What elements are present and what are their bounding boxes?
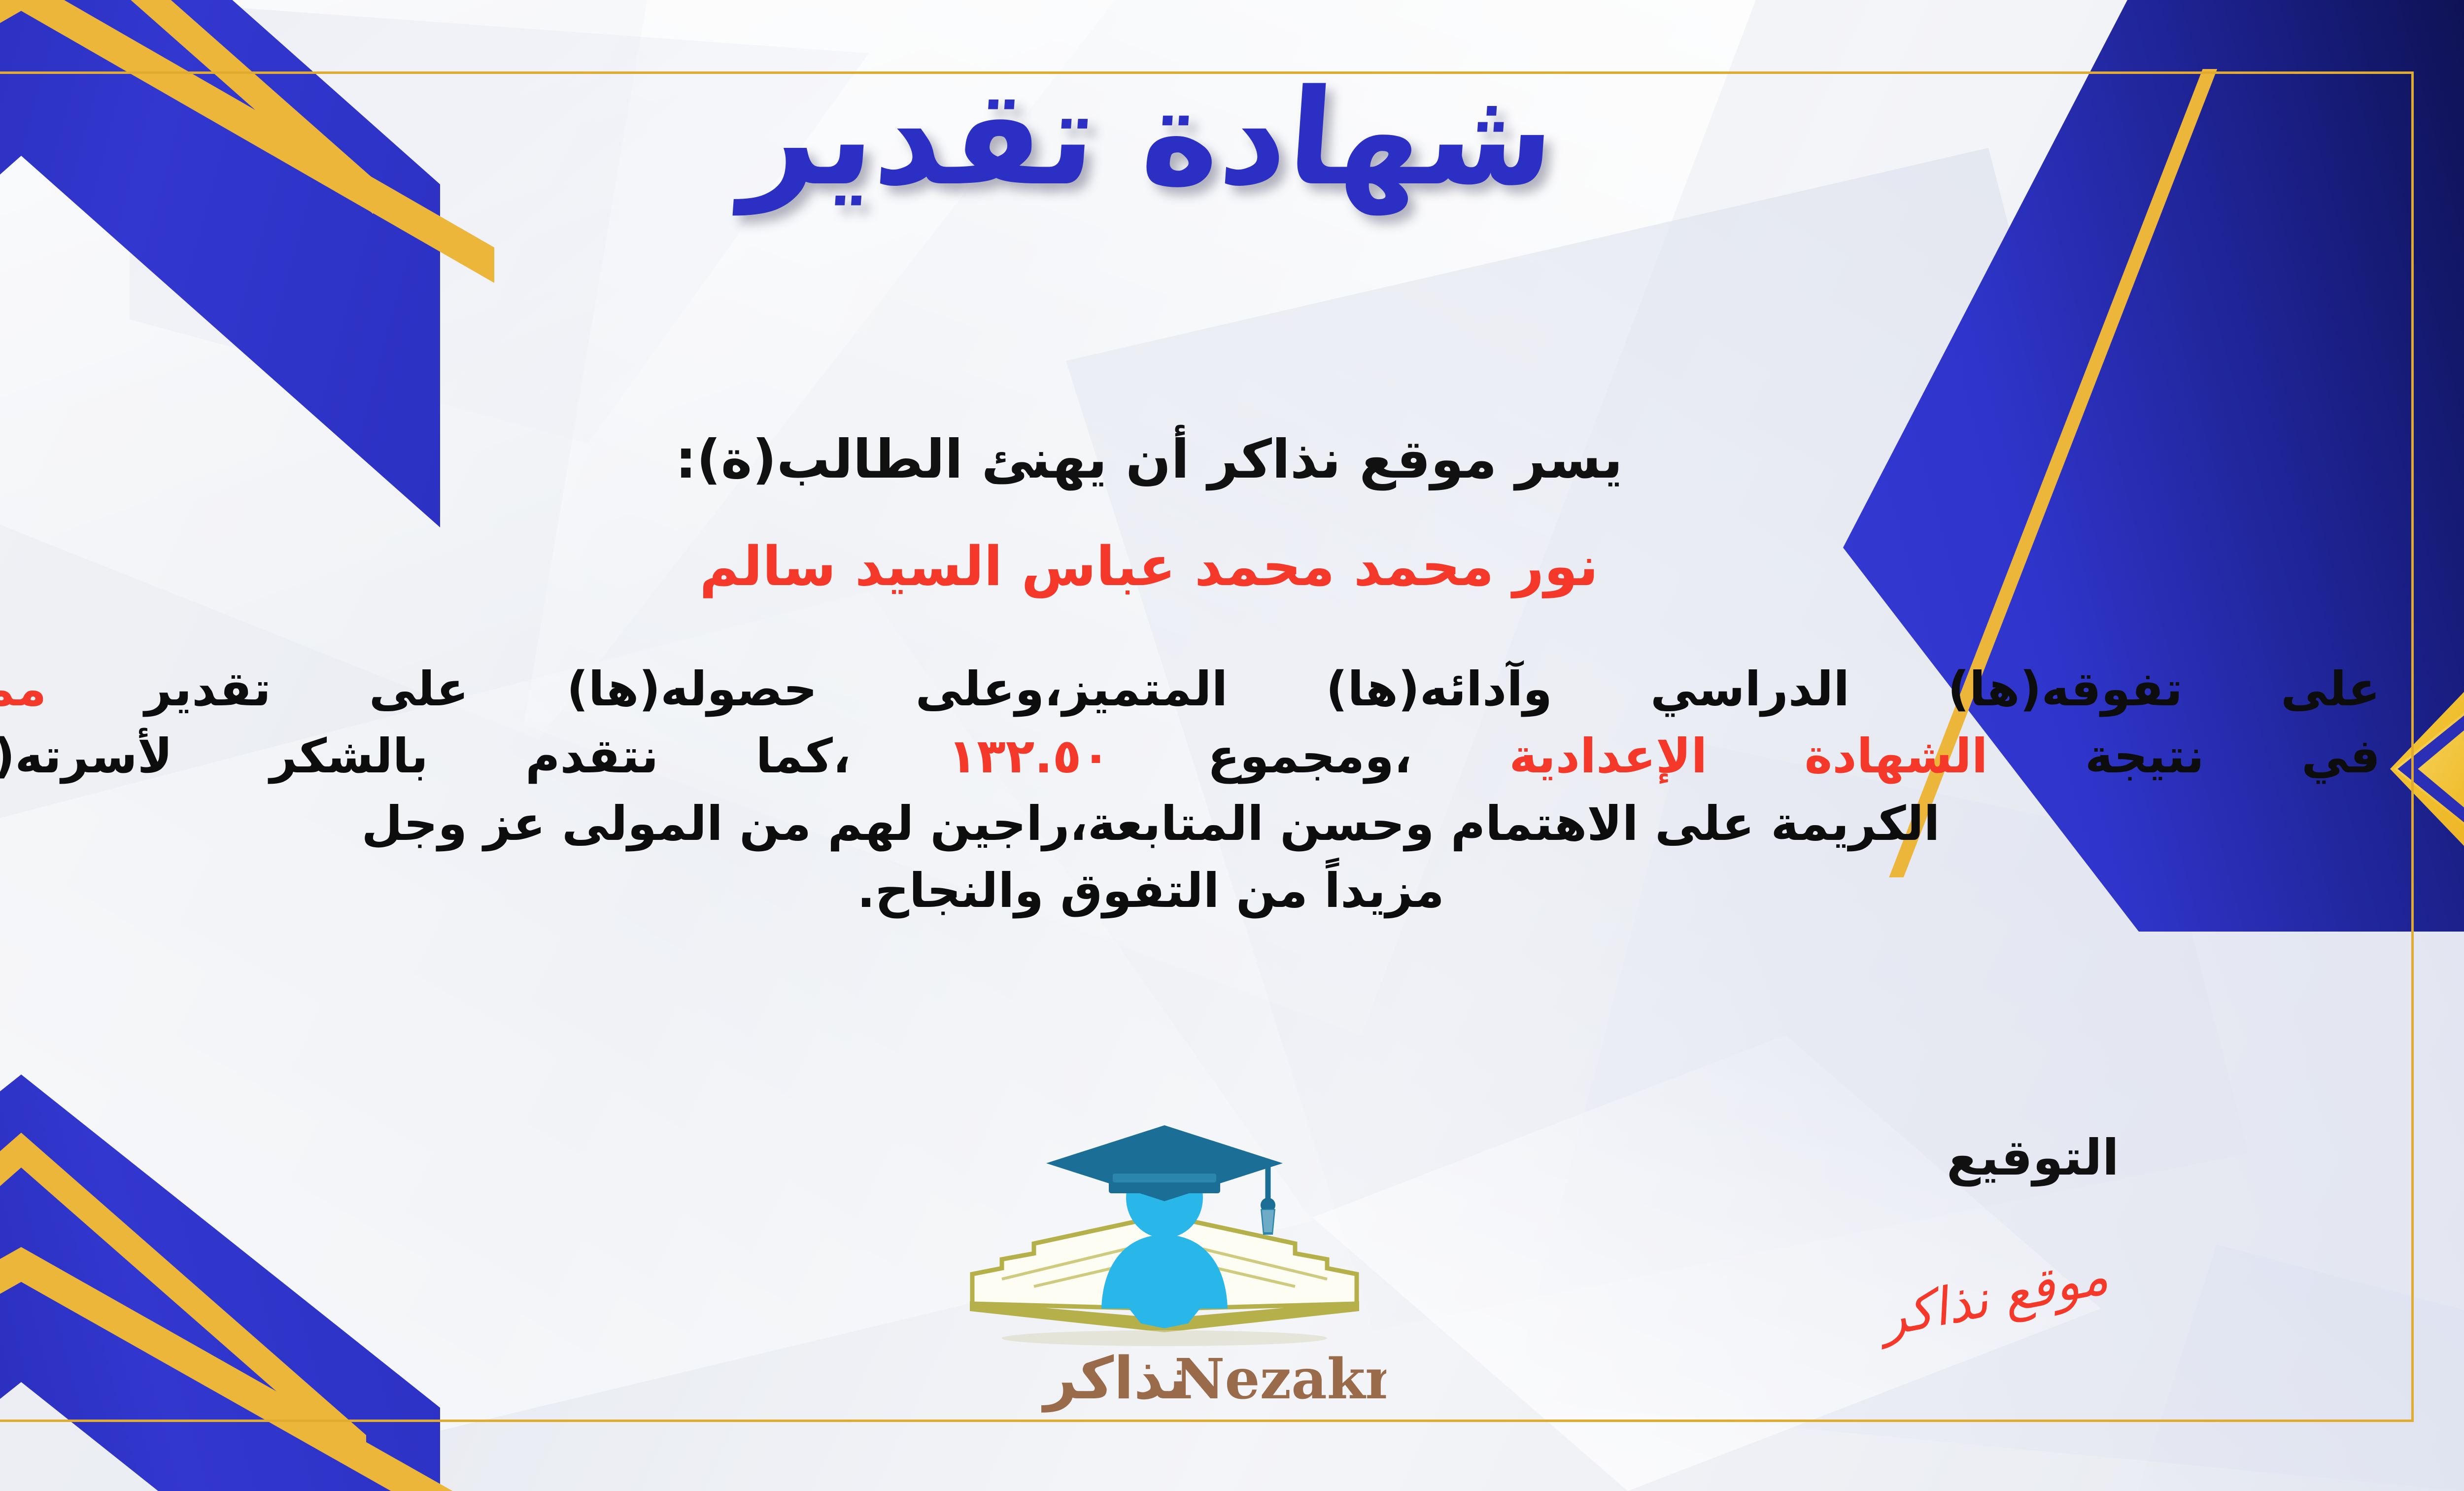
body-line-2-prefix: في نتيجة bbox=[2085, 728, 2380, 784]
grade-value: ممتاز bbox=[0, 661, 46, 717]
greeting-text: يسر موقع نذاكر أن يهنئ الطالب(ة): bbox=[0, 429, 2464, 490]
certificate-canvas: شهادة تقدير يسر موقع نذاكر أن يهنئ الطال… bbox=[0, 0, 2464, 1491]
body-line-1: على تفوقه(ها) الدراسي وآدائه(ها) المتميز… bbox=[0, 656, 2380, 723]
body-line-3: الكريمة على الاهتمام وحسن المتابعة،راجين… bbox=[0, 790, 2380, 857]
certificate-body: على تفوقه(ها) الدراسي وآدائه(ها) المتميز… bbox=[0, 656, 2380, 924]
signature-mark: موقع نذاكر bbox=[1876, 1246, 2113, 1349]
body-line-2-mid: ،ومجموع bbox=[1207, 728, 1412, 784]
certificate-content: شهادة تقدير يسر موقع نذاكر أن يهنئ الطال… bbox=[0, 0, 2464, 1491]
logo-brand-arabic: نذاكر bbox=[1041, 1344, 1189, 1413]
body-line-2: في نتيجة الشهادة الإعدادية ،ومجموع ١٣٢.٥… bbox=[0, 723, 2380, 790]
certificate-title: شهادة تقدير bbox=[0, 69, 2464, 208]
graduate-book-icon: Nezakr نذاكر bbox=[943, 1111, 1386, 1417]
logo-brand-latin: Nezakr bbox=[1174, 1347, 1386, 1412]
total-score: ١٣٢.٥٠ bbox=[948, 728, 1110, 784]
nezakr-logo: Nezakr نذاكر bbox=[943, 1111, 1386, 1417]
body-line-1-text: على تفوقه(ها) الدراسي وآدائه(ها) المتميز… bbox=[144, 661, 2380, 717]
signature-label: التوقيع bbox=[1947, 1129, 2119, 1186]
student-name: نور محمد محمد عباس السيد سالم bbox=[0, 535, 2464, 598]
exam-name: الشهادة الإعدادية bbox=[1509, 728, 1988, 784]
body-line-4: مزيداً من التفوق والنجاح. bbox=[0, 857, 2380, 924]
body-line-2-suffix: ،كما نتقدم بالشكر لأسرته(ها) bbox=[0, 728, 851, 784]
